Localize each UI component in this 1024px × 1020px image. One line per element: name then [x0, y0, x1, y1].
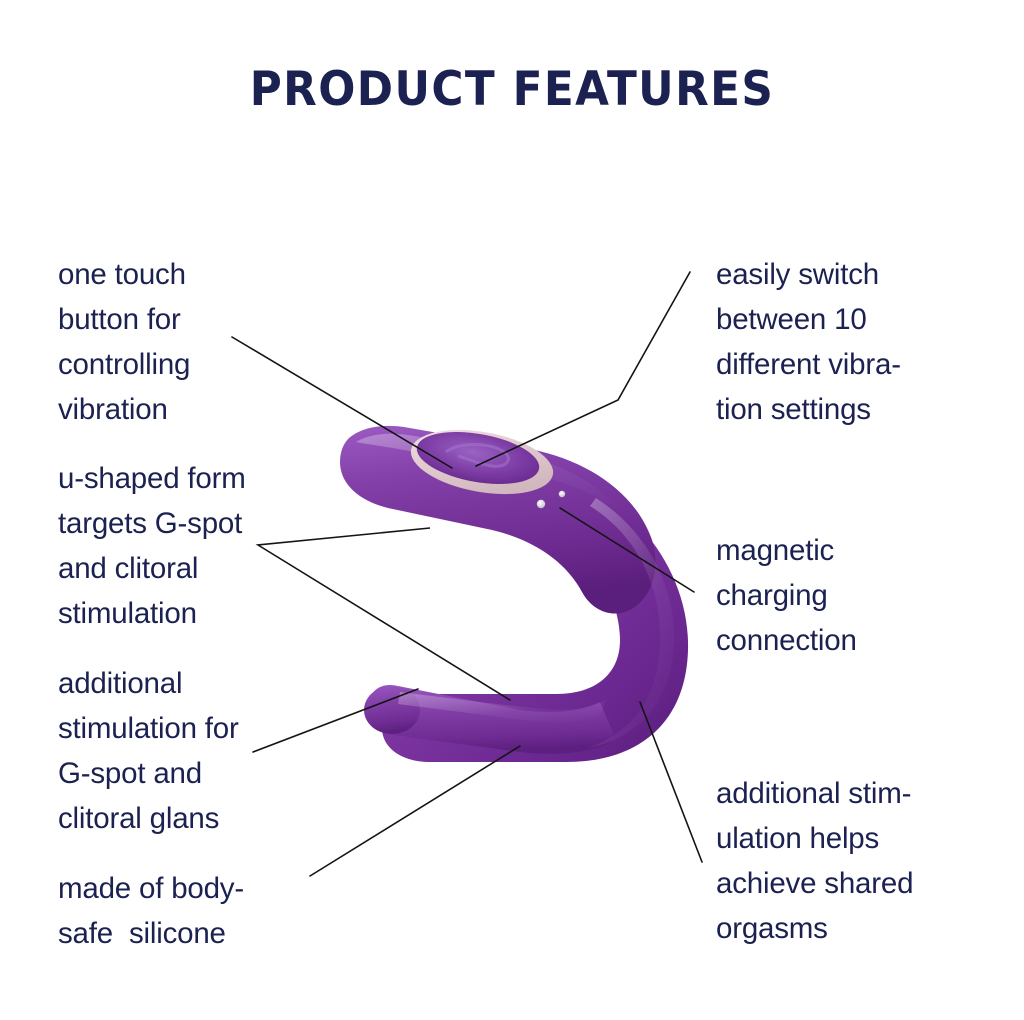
feature-label-u-shaped-form: u-shaped form targets G-spot and clitora… — [58, 456, 246, 636]
charging-pin-icon — [559, 491, 565, 497]
feature-label-shared-orgasms: additional stim- ulation helps achieve s… — [716, 771, 913, 951]
charging-pin-icon — [537, 500, 545, 508]
product-body — [340, 420, 688, 762]
feature-label-body-safe-silicone: made of body- safe silicone — [58, 866, 244, 956]
product-prong-tip — [364, 686, 420, 734]
feature-label-magnetic-charging: magnetic charging connection — [716, 528, 857, 663]
product-features-infographic: PRODUCT FEATURES — [0, 0, 1024, 1020]
feature-label-one-touch-button: one touch button for controlling vibrati… — [58, 252, 190, 432]
feature-label-additional-g-spot: additional stimulation for G-spot and cl… — [58, 661, 239, 841]
feature-label-vibration-settings: easily switch between 10 different vibra… — [716, 252, 901, 432]
